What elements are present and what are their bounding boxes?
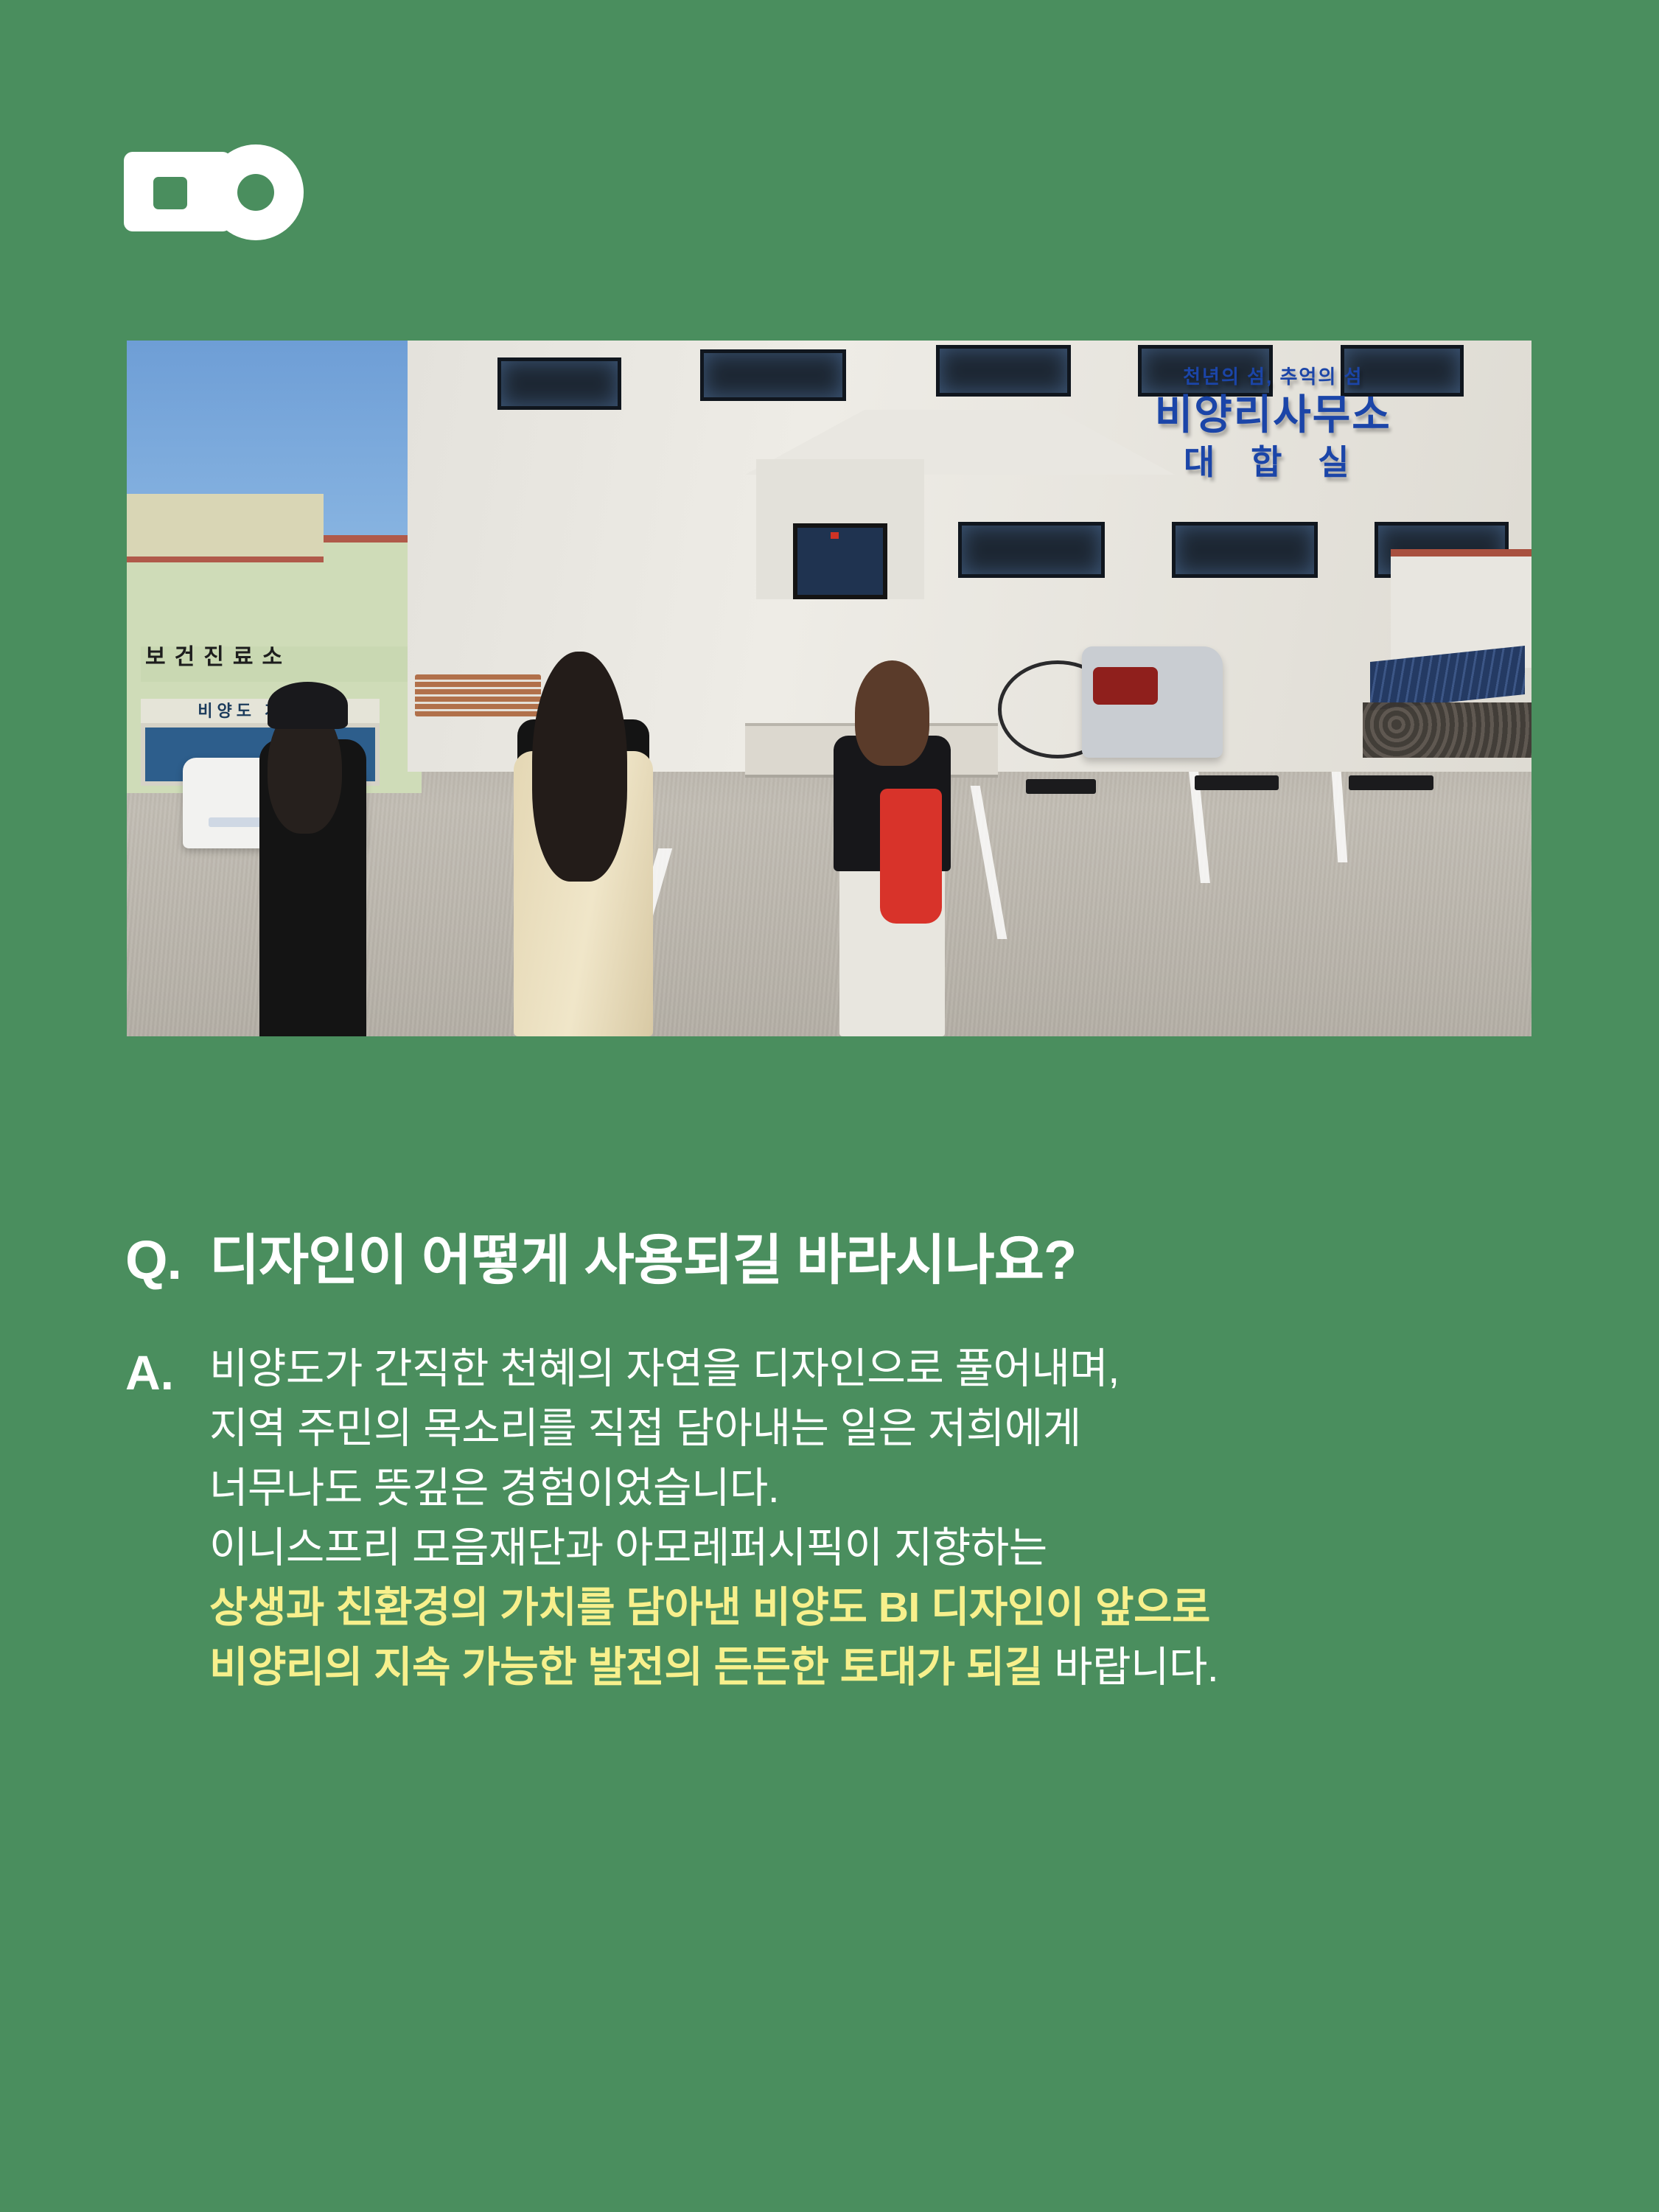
photo-door-red-sticker bbox=[831, 532, 839, 540]
logo-circle-icon bbox=[208, 144, 304, 240]
photo-window bbox=[497, 357, 621, 409]
photo-sign-tagline: 천년의 섬, 추억의 섬 bbox=[1105, 366, 1442, 388]
answer-line-highlighted: 상생과 친환경의 가치를 담아낸 비양도 BI 디자인이 앞으로 bbox=[209, 1578, 1570, 1638]
photo-red-tote-bag bbox=[880, 789, 942, 924]
photo-window bbox=[936, 345, 1071, 397]
photo-entrance-portico bbox=[745, 410, 936, 600]
answer-line: 이니스프리 모음재단과 아모레퍼시픽이 지향하는 bbox=[209, 1518, 1570, 1578]
photo-person-left bbox=[246, 674, 380, 1036]
hero-photo: 보건진료소 비양도 게시판 천년의 섬, 추억의 섬 비양리사무소 대 합 실 bbox=[127, 341, 1531, 1036]
answer-line-highlighted: 비양리의 지속 가능한 발전의 든든한 토대가 되길 바랍니다. bbox=[209, 1638, 1570, 1698]
answer-line: 너무나도 뜻깊은 경험이었습니다. bbox=[209, 1459, 1570, 1518]
photo-entrance-door bbox=[793, 523, 887, 599]
question-marker: Q. bbox=[125, 1229, 209, 1291]
answer-line: 비양도가 간직한 천혜의 자연을 디자인으로 풀어내며, bbox=[209, 1339, 1570, 1399]
answer-line-highlight-part: 비양리의 지속 가능한 발전의 든든한 토대가 되길 bbox=[209, 1644, 1043, 1691]
question-row: Q. 디자인이 어떻게 사용되길 바라시나요? bbox=[125, 1216, 1570, 1295]
photo-window bbox=[958, 522, 1104, 578]
photo-window bbox=[1172, 522, 1318, 578]
photo-wheel-stopper bbox=[1195, 775, 1279, 790]
photo-person-right bbox=[815, 660, 970, 1036]
answer-line-tail-part: 바랍니다. bbox=[1043, 1644, 1218, 1691]
photo-wheel-stopper bbox=[1026, 779, 1096, 794]
brand-logo bbox=[124, 144, 310, 237]
qa-section: Q. 디자인이 어떻게 사용되길 바라시나요? A. 비양도가 간직한 천혜의 … bbox=[125, 1216, 1570, 1698]
photo-wheel-stopper bbox=[1349, 775, 1433, 790]
answer-row: A. 비양도가 간직한 천혜의 자연을 디자인으로 풀어내며, 지역 주민의 목… bbox=[125, 1339, 1570, 1698]
answer-marker: A. bbox=[125, 1339, 209, 1403]
photo-portico-body bbox=[756, 459, 924, 600]
photo-left-building-roof bbox=[127, 494, 324, 562]
question-text: 디자인이 어떻게 사용되길 바라시나요? bbox=[209, 1216, 1076, 1295]
photo-window bbox=[700, 349, 846, 401]
answer-lines: 비양도가 간직한 천혜의 자연을 디자인으로 풀어내며, 지역 주민의 목소리를… bbox=[209, 1339, 1570, 1698]
photo-person-center bbox=[492, 640, 675, 1036]
photo-black-cap bbox=[268, 682, 348, 729]
photo-basalt-rock-pile bbox=[1363, 702, 1531, 758]
answer-line: 지역 주민의 목소리를 직접 담아내는 일은 저희에게 bbox=[209, 1399, 1570, 1459]
photo-electric-scooter bbox=[1082, 646, 1223, 758]
